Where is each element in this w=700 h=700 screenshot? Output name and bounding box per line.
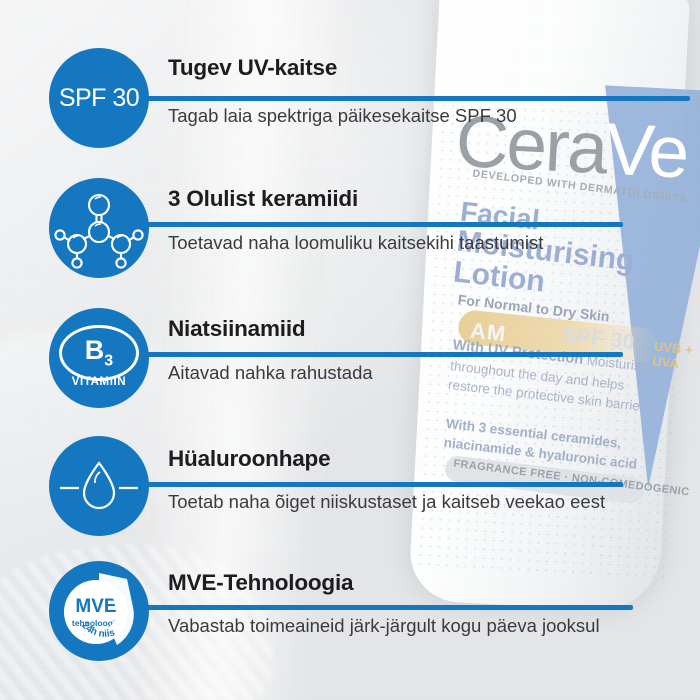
feature-title-1: Tugev UV-kaitse (168, 55, 337, 81)
mve-arc-text: 24h niisutus (75, 581, 135, 641)
feature-title-3: Niatsiinamiid (168, 316, 305, 342)
spf-30-badge-label: SPF 30 (59, 84, 139, 113)
ceramide-molecule-icon (49, 178, 149, 278)
vitamin-b3-oval: B3 (59, 325, 139, 381)
feature-rule-3 (128, 352, 623, 357)
water-drop-icon (49, 436, 149, 536)
feature-title-5: MVE-Tehnoloogia (168, 570, 353, 596)
feature-description-3: Aitavad nahka rahustada (168, 360, 638, 387)
mve-arc-label: 24h niisutus (72, 573, 117, 640)
feature-description-4: Toetab naha õiget niiskustaset ja kaitse… (168, 489, 638, 516)
feature-rule-4 (128, 482, 623, 487)
vitamin-b3-icon: B3 VITAMIIN (49, 308, 149, 408)
svg-text:24h niisutus: 24h niisutus (72, 573, 117, 640)
vitamin-b3-sublabel: VITAMIIN (49, 376, 149, 388)
vitamin-b3-label: B3 (85, 337, 113, 369)
feature-description-1: Tagab laia spektriga päikesekaitse SPF 3… (168, 103, 638, 130)
infographic-canvas: CeraVe DEVELOPED WITH DERMATOLOGISTS Fac… (0, 0, 700, 700)
feature-rule-1 (128, 96, 690, 101)
feature-description-5: Vabastab toimeaineid järk-järgult kogu p… (168, 613, 638, 640)
spf-30-badge-icon: SPF 30 (49, 48, 149, 148)
feature-list: SPF 30 Tugev UV-kaitse Tagab laia spektr… (0, 0, 700, 700)
feature-description-2: Toetavad naha loomuliku kaitsekihi taast… (168, 230, 638, 257)
feature-rule-2 (128, 222, 623, 227)
feature-title-4: Hüaluroonhape (168, 446, 330, 472)
mve-technology-icon: MVE tehnoloogia 24h niisutus (49, 561, 149, 661)
feature-rule-5 (128, 605, 633, 610)
feature-title-2: 3 Olulist keramiidi (168, 186, 358, 212)
